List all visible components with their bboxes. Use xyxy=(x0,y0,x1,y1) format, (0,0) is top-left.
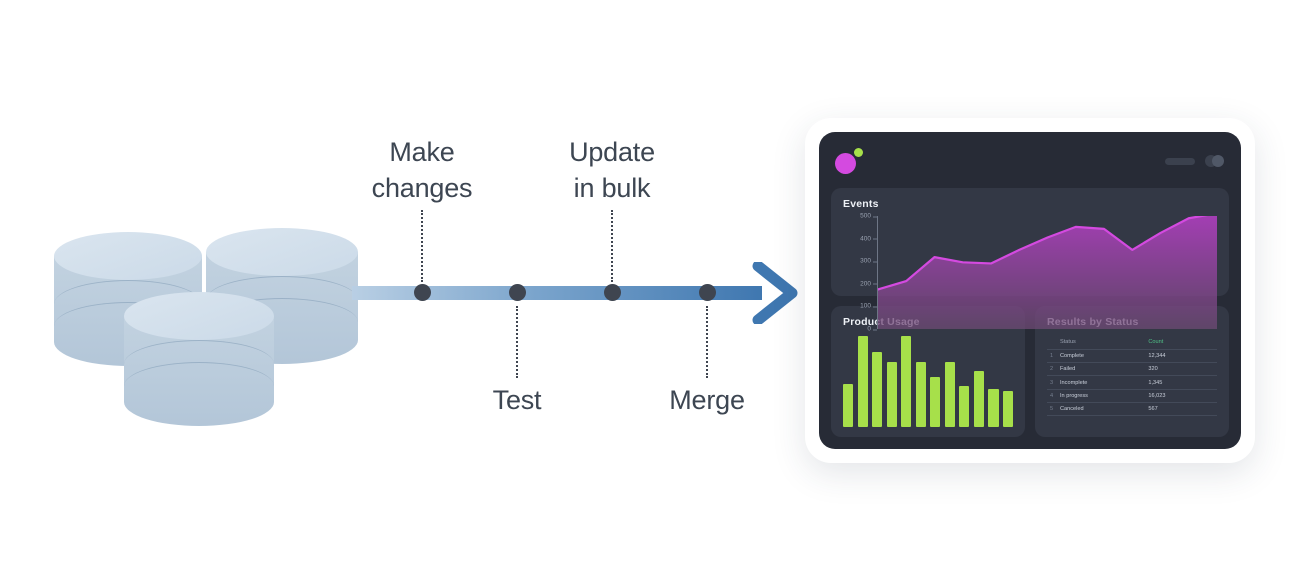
events-y-tick-0: 0 xyxy=(867,326,871,333)
logo-circle-large xyxy=(835,153,856,174)
row-count: 16,023 xyxy=(1146,389,1217,402)
row-index: 2 xyxy=(1047,363,1058,376)
table-row[interactable]: 4In progress16,023 xyxy=(1047,389,1217,402)
status-table-body: 1Complete12,3442Failed3203Incomplete1,34… xyxy=(1047,350,1217,416)
timeline-label-3: Update in bulk xyxy=(512,134,712,206)
row-count: 567 xyxy=(1146,402,1217,415)
row-index: 5 xyxy=(1047,402,1058,415)
row-index: 3 xyxy=(1047,376,1058,389)
table-header-count: Count xyxy=(1146,336,1217,350)
timeline-dot-2[interactable] xyxy=(509,284,526,301)
row-count: 1,345 xyxy=(1146,376,1217,389)
arrow-head-icon xyxy=(752,262,798,324)
row-status: Complete xyxy=(1058,350,1146,363)
usage-bar-1 xyxy=(843,384,853,427)
table-header-status: Status xyxy=(1058,336,1146,350)
row-count: 320 xyxy=(1146,363,1217,376)
row-status: Failed xyxy=(1058,363,1146,376)
database-stack-icon xyxy=(44,222,364,412)
table-header-row: Status Count xyxy=(1047,336,1217,350)
status-table: Status Count 1Complete12,3442Failed3203I… xyxy=(1047,336,1217,416)
table-row[interactable]: 5Canceled567 xyxy=(1047,402,1217,415)
usage-bar-5 xyxy=(901,336,911,427)
usage-bar-10 xyxy=(974,371,984,427)
usage-bar-6 xyxy=(916,362,926,427)
timeline-connector-1 xyxy=(421,210,423,282)
timeline-label-2: Test xyxy=(417,382,617,418)
events-y-axis: 5004003002001000 xyxy=(843,216,877,329)
events-y-tick-500: 500 xyxy=(860,213,871,220)
dashboard-screen: Events 5004003002001000 xyxy=(819,132,1241,449)
usage-bar-4 xyxy=(887,362,897,427)
events-y-tick-200: 200 xyxy=(860,280,871,287)
timeline-label-4: Merge xyxy=(607,382,807,418)
events-chart: 5004003002001000 xyxy=(843,216,1217,329)
timeline-dot-4[interactable] xyxy=(699,284,716,301)
row-status: Incomplete xyxy=(1058,376,1146,389)
logo-circle-small xyxy=(854,148,863,157)
usage-bar-8 xyxy=(945,362,955,427)
illustration-canvas: Make changesTestUpdate in bulkMerge Even… xyxy=(0,0,1301,586)
usage-bar-7 xyxy=(930,377,940,427)
events-area-series xyxy=(878,216,1217,329)
events-card: Events 5004003002001000 xyxy=(831,188,1229,296)
events-y-tick-400: 400 xyxy=(860,235,871,242)
row-status: Canceled xyxy=(1058,402,1146,415)
events-y-tick-300: 300 xyxy=(860,258,871,265)
row-status: In progress xyxy=(1058,389,1146,402)
row-index: 1 xyxy=(1047,350,1058,363)
product-usage-bars xyxy=(843,336,1013,427)
search-pill-placeholder[interactable] xyxy=(1165,158,1195,165)
topbar-controls xyxy=(1165,155,1225,167)
timeline-label-1: Make changes xyxy=(322,134,522,206)
timeline-dot-3[interactable] xyxy=(604,284,621,301)
dashboard-device: Events 5004003002001000 xyxy=(805,118,1255,463)
row-index: 4 xyxy=(1047,389,1058,402)
table-row[interactable]: 1Complete12,344 xyxy=(1047,350,1217,363)
table-row[interactable]: 3Incomplete1,345 xyxy=(1047,376,1217,389)
database-cylinder-front xyxy=(124,292,274,402)
table-row[interactable]: 2Failed320 xyxy=(1047,363,1217,376)
timeline-dot-1[interactable] xyxy=(414,284,431,301)
usage-bar-11 xyxy=(988,389,998,427)
timeline-connector-2 xyxy=(516,306,518,378)
usage-bar-12 xyxy=(1003,391,1013,427)
events-y-tick-100: 100 xyxy=(860,303,871,310)
usage-bar-3 xyxy=(872,352,882,427)
timeline-connector-4 xyxy=(706,306,708,378)
events-area-plot xyxy=(878,216,1217,329)
events-card-title: Events xyxy=(843,198,1217,210)
avatar-group-icon[interactable] xyxy=(1205,155,1225,167)
usage-bar-2 xyxy=(858,336,868,427)
row-count: 12,344 xyxy=(1146,350,1217,363)
dashboard-topbar xyxy=(831,144,1229,178)
usage-bar-9 xyxy=(959,386,969,427)
app-logo-icon xyxy=(835,147,869,175)
timeline-connector-3 xyxy=(611,210,613,282)
table-header-index xyxy=(1047,336,1058,350)
